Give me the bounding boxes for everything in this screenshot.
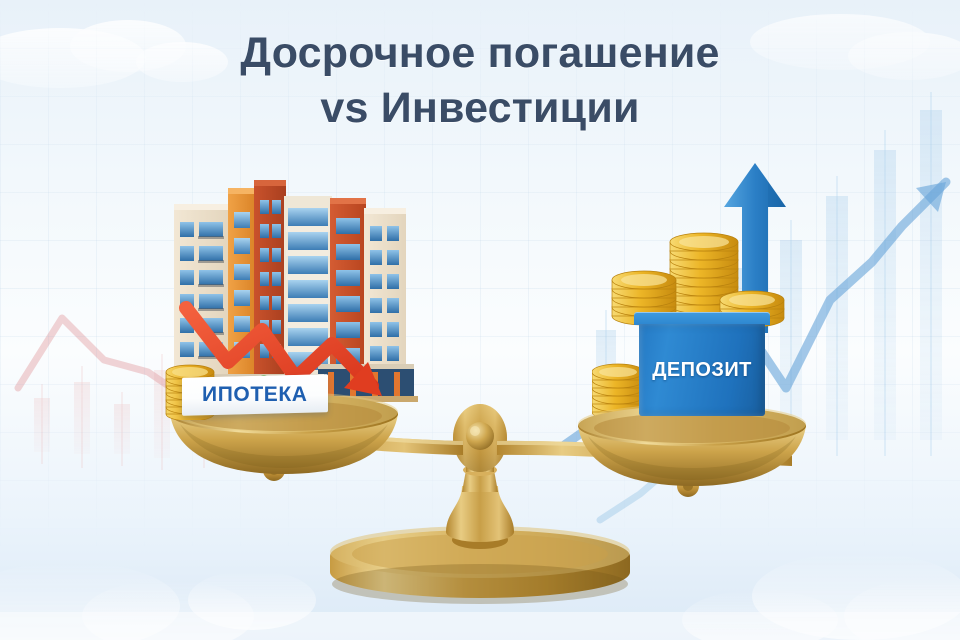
- scale-pan-right: [578, 404, 806, 497]
- page-title: Досрочное погашение vs Инвестиции: [0, 26, 960, 136]
- title-line-2: vs Инвестиции: [0, 81, 960, 136]
- scale-pivot: [453, 404, 507, 472]
- title-line-1: Досрочное погашение: [240, 29, 719, 77]
- deposit-box: ДЕПОЗИТ: [634, 312, 770, 416]
- mortgage-plate: ИПОТЕКА: [182, 374, 328, 416]
- mortgage-label: ИПОТЕКА: [202, 383, 308, 407]
- infographic-canvas: Досрочное погашение vs Инвестиции: [0, 0, 960, 640]
- deposit-box-body: ДЕПОЗИТ: [639, 324, 765, 416]
- deposit-label: ДЕПОЗИТ: [652, 359, 751, 382]
